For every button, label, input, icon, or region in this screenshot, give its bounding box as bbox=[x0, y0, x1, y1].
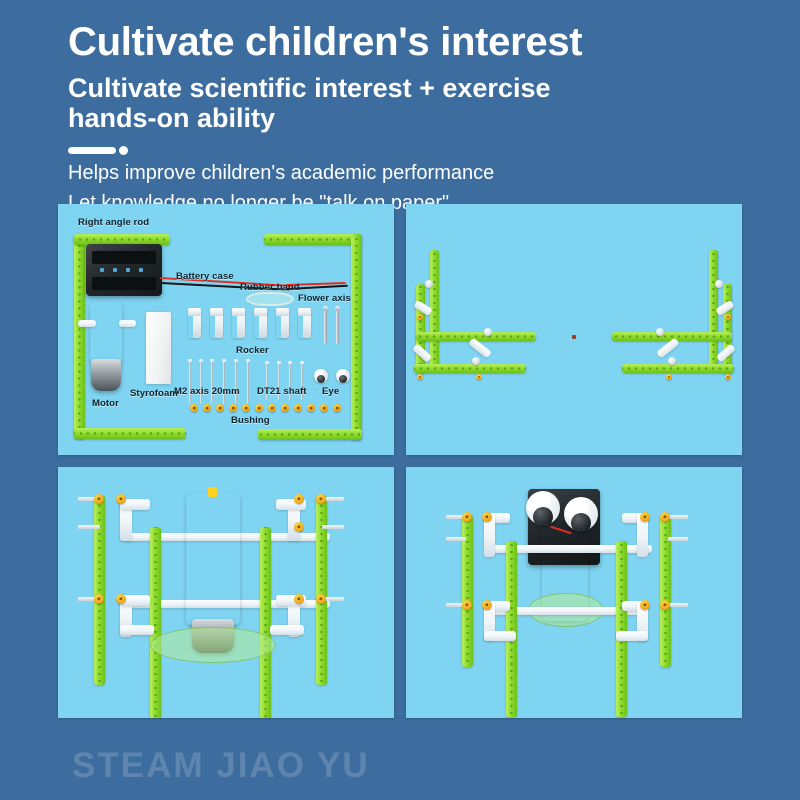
watermark-text: STEAM JIAO YU bbox=[72, 746, 370, 786]
label-m2-axis: M2 axis 20mm bbox=[174, 386, 240, 397]
chassis-leg-outer-left bbox=[94, 495, 105, 685]
styrofoam-part bbox=[146, 312, 171, 384]
label-dt21-shaft: DT21 shaft bbox=[257, 386, 307, 397]
robot-bushing-ul bbox=[462, 512, 472, 522]
label-right-angle-rod: Right angle rod bbox=[78, 217, 149, 228]
label-rubber-band: Rubber band bbox=[240, 282, 300, 293]
leg-frame-left-screw-c bbox=[472, 357, 480, 365]
motor-shaft-left bbox=[78, 320, 96, 327]
robot-axle-end-lr bbox=[668, 603, 688, 607]
page-subtitle: Cultivate scientific interest + exercise… bbox=[68, 73, 608, 133]
motor-shaft-right bbox=[119, 320, 136, 327]
robot-leg-inner-right bbox=[616, 541, 627, 717]
leg-frame-right-screw-a bbox=[715, 280, 723, 288]
leg-frame-right-screw-c bbox=[668, 357, 676, 365]
chassis-bushing-lr bbox=[316, 594, 326, 604]
leg-frame-left-lower-bar bbox=[414, 364, 526, 373]
chassis-axle-end-ur2 bbox=[322, 525, 344, 529]
chassis-leg-inner-left bbox=[150, 527, 161, 718]
flower-axis-part bbox=[324, 306, 327, 344]
right-angle-rod-right-vertical bbox=[351, 234, 362, 440]
chassis-bushing-ur bbox=[316, 494, 326, 504]
robot-link-lr bbox=[616, 631, 648, 641]
flower-axis-part bbox=[336, 306, 339, 344]
motor-body-part bbox=[90, 302, 122, 364]
eye-part bbox=[336, 369, 350, 383]
bushing-part bbox=[333, 404, 341, 412]
m2-axis-part bbox=[189, 359, 191, 404]
robot-link-ll bbox=[484, 631, 516, 641]
leg-frame-right-bushing-a bbox=[725, 314, 731, 320]
right-angle-rod-right-bottom bbox=[258, 429, 362, 440]
page-title: Cultivate children's interest bbox=[68, 18, 768, 66]
motor-can-part bbox=[91, 359, 121, 391]
robot-bushing-ll2 bbox=[482, 600, 492, 610]
leg-frame-right-lower-bar bbox=[622, 364, 734, 373]
bushing-part bbox=[190, 404, 198, 412]
bushing-part bbox=[255, 404, 263, 412]
right-angle-rod-right-top bbox=[264, 234, 362, 245]
label-motor: Motor bbox=[92, 398, 119, 409]
label-rocker: Rocker bbox=[236, 345, 269, 356]
chassis-leg-inner-right bbox=[260, 527, 271, 718]
robot-axle-end-ul2 bbox=[446, 537, 466, 541]
chassis-bushing-lr2 bbox=[294, 594, 304, 604]
bushing-part bbox=[281, 404, 289, 412]
robot-eye-left bbox=[526, 491, 560, 525]
photo-assembled-chassis[interactable] bbox=[58, 467, 394, 718]
robot-axle-end-ur bbox=[668, 515, 688, 519]
divider bbox=[68, 146, 768, 155]
right-angle-rod-left-bottom bbox=[74, 428, 186, 439]
chassis-motor-tab bbox=[208, 487, 217, 497]
label-flower-axis: Flower axis bbox=[298, 293, 351, 304]
robot-axle-end-ur2 bbox=[668, 537, 688, 541]
bushing-part bbox=[320, 404, 328, 412]
leg-frame-left-bushing-b bbox=[417, 374, 423, 380]
chassis-bushing-ll bbox=[94, 594, 104, 604]
chassis-bushing-ur3 bbox=[294, 522, 304, 532]
leg-frame-left-screw-a bbox=[425, 280, 433, 288]
chassis-gear-plate bbox=[150, 627, 276, 663]
header-block: Cultivate children's interest Cultivate … bbox=[68, 18, 768, 215]
rocker-part bbox=[232, 308, 245, 338]
label-battery-case: Battery case bbox=[176, 271, 234, 282]
photo-finished-robot[interactable] bbox=[406, 467, 742, 718]
bushing-part bbox=[268, 404, 276, 412]
m2-axis-part bbox=[235, 359, 237, 404]
label-eye: Eye bbox=[322, 386, 339, 397]
robot-bushing-lr2 bbox=[640, 600, 650, 610]
leg-frame-left-screw-b bbox=[484, 328, 492, 336]
bushing-part bbox=[294, 404, 302, 412]
rocker-part bbox=[298, 308, 311, 338]
rocker-part bbox=[276, 308, 289, 338]
rocker-part bbox=[210, 308, 223, 338]
robot-bushing-ur bbox=[660, 512, 670, 522]
m2-axis-part bbox=[200, 359, 202, 404]
chassis-leg-outer-right bbox=[316, 495, 327, 685]
right-angle-rod-left-vertical bbox=[74, 234, 85, 439]
leg-frame-left-bushing-a bbox=[417, 314, 423, 320]
rubber-band-part bbox=[246, 292, 294, 306]
chassis-link-ll bbox=[120, 625, 154, 635]
center-reference-mark bbox=[572, 335, 576, 339]
robot-bushing-ll bbox=[462, 600, 472, 610]
m2-axis-part bbox=[247, 359, 249, 404]
description-line-1: Helps improve children's academic perfor… bbox=[68, 162, 768, 185]
photo-gallery: Right angle rod Battery case Rubber band… bbox=[58, 204, 742, 718]
divider-dot-icon bbox=[119, 146, 128, 155]
leg-frame-right-bushing-b bbox=[725, 374, 731, 380]
bushing-part bbox=[229, 404, 237, 412]
m2-axis-part bbox=[211, 359, 213, 404]
photo-leg-frames[interactable] bbox=[406, 204, 742, 455]
chassis-bushing-ul bbox=[94, 494, 104, 504]
bushing-part bbox=[242, 404, 250, 412]
leg-frame-right-inner-vertical bbox=[723, 284, 732, 374]
chassis-bushing-ll2 bbox=[116, 594, 126, 604]
divider-bar-icon bbox=[68, 147, 116, 154]
bushing-part bbox=[203, 404, 211, 412]
leg-frame-left-bushing-c bbox=[476, 374, 482, 380]
chassis-link-lr bbox=[270, 625, 304, 635]
robot-bushing-lr bbox=[660, 600, 670, 610]
chassis-bushing-ul2 bbox=[116, 494, 126, 504]
battery-case-part bbox=[86, 244, 162, 296]
label-styrofoam: Styrofoam bbox=[130, 388, 178, 399]
chassis-motor-body bbox=[186, 493, 240, 625]
rocker-part bbox=[254, 308, 267, 338]
label-bushing: Bushing bbox=[231, 415, 270, 426]
m2-axis-part bbox=[223, 359, 225, 404]
robot-bushing-ur2 bbox=[640, 512, 650, 522]
leg-frame-right-bushing-c bbox=[666, 374, 672, 380]
bushing-part bbox=[216, 404, 224, 412]
chassis-bushing-ur2 bbox=[294, 494, 304, 504]
photo-parts-layout[interactable]: Right angle rod Battery case Rubber band… bbox=[58, 204, 394, 455]
eye-part bbox=[314, 369, 328, 383]
robot-leg-inner-left bbox=[506, 541, 517, 717]
rocker-part bbox=[188, 308, 201, 338]
bushing-part bbox=[307, 404, 315, 412]
leg-frame-right-screw-b bbox=[656, 328, 664, 336]
chassis-axle-end-ul2 bbox=[78, 525, 100, 529]
robot-bushing-ul2 bbox=[482, 512, 492, 522]
